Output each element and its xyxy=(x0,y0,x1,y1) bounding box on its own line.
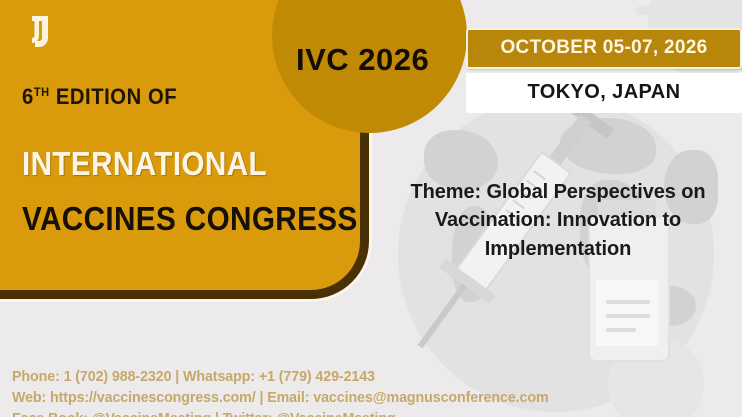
ivc-badge-label: IVC 2026 xyxy=(296,42,429,78)
edition-number: 6 xyxy=(22,84,34,109)
contact-social-line: Face Book: @VaccineMeeting | Twitter: @V… xyxy=(12,408,706,417)
virus-spike-icon xyxy=(636,6,658,15)
contact-web-email-line: Web: https://vaccinescongress.com/ | Ema… xyxy=(12,387,706,408)
event-title-line1: INTERNATIONAL xyxy=(22,145,267,183)
vial-label-line xyxy=(606,328,636,332)
edition-ordinal: TH xyxy=(34,85,50,99)
conference-banner: magnus Group 6TH EDITION OF INTERNATIONA… xyxy=(0,0,742,417)
event-city: TOKYO, JAPAN xyxy=(466,73,742,113)
contact-footer: Phone: 1 (702) 988-2320 | Whatsapp: +1 (… xyxy=(0,366,742,417)
date-location-block: OCTOBER 05-07, 2026 TOKYO, JAPAN xyxy=(466,28,742,113)
magnus-group-logo xyxy=(28,8,148,52)
edition-label: 6TH EDITION OF xyxy=(22,84,177,110)
event-date: OCTOBER 05-07, 2026 xyxy=(466,28,742,69)
magnus-monogram-icon xyxy=(28,8,148,52)
edition-suffix: EDITION OF xyxy=(50,84,178,109)
vial-label-shape xyxy=(596,280,658,346)
contact-phone-line: Phone: 1 (702) 988-2320 | Whatsapp: +1 (… xyxy=(12,366,706,387)
event-title-line2: VACCINES CONGRESS xyxy=(22,200,358,238)
vial-label-line xyxy=(606,314,650,318)
event-theme: Theme: Global Perspectives on Vaccinatio… xyxy=(380,178,736,263)
vial-label-line xyxy=(606,300,650,304)
